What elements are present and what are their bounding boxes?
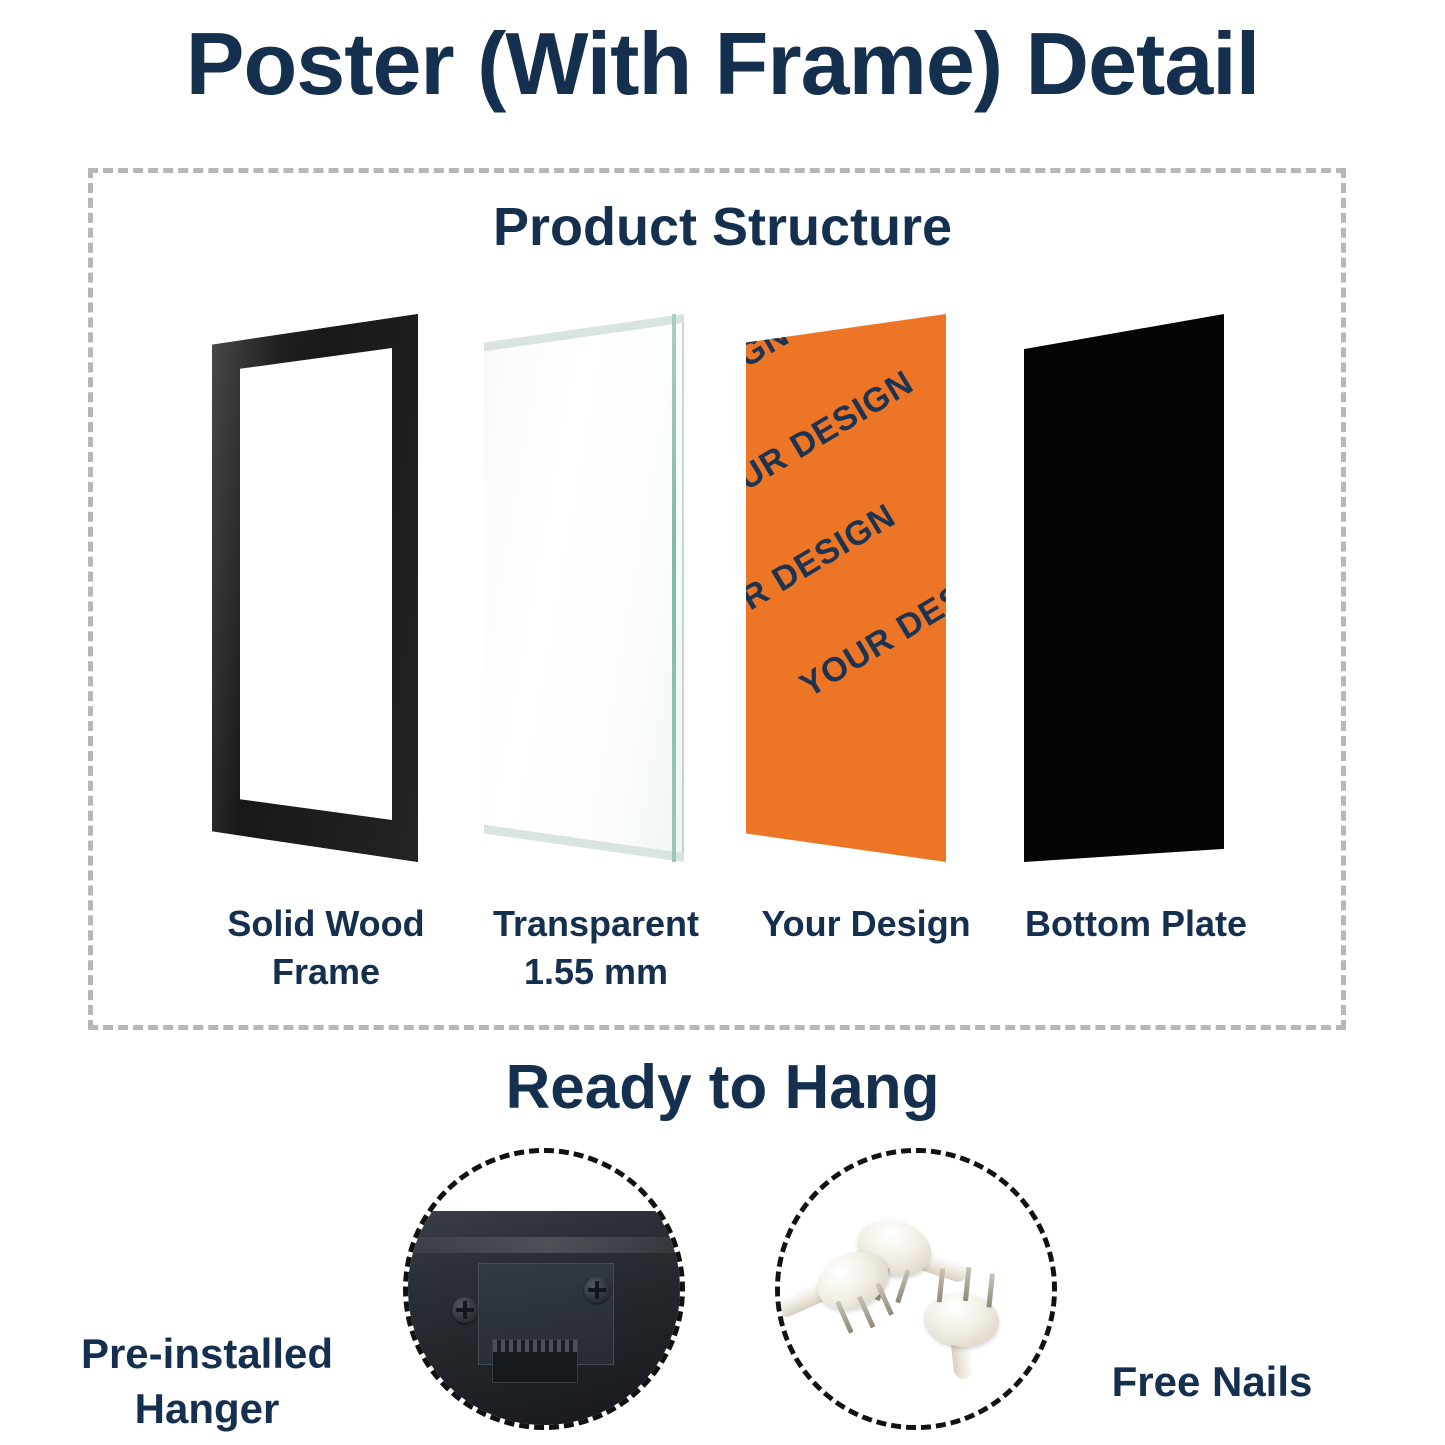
hanger-sawtooth-slot [492, 1339, 578, 1383]
part-bottom-plate: Bottom Plate [1016, 300, 1256, 880]
pre-installed-hanger-photo [403, 1211, 685, 1430]
bottom-plate-body [1024, 314, 1224, 862]
your-design-watermark: YOUR DESIGN YOUR DESIGN YOUR DESIGN YOUR… [746, 314, 946, 862]
hanger-edge-highlight [403, 1237, 685, 1253]
ready-to-hang-heading: Ready to Hang [0, 1052, 1445, 1123]
caption-line-1: Pre-installed [42, 1326, 372, 1381]
hanger-screw-icon [452, 1297, 478, 1323]
your-design-illustration: YOUR DESIGN YOUR DESIGN YOUR DESIGN YOUR… [746, 300, 986, 860]
glass-sheet-illustration [476, 300, 716, 860]
product-structure-heading: Product Structure [0, 196, 1445, 258]
hanger-photo-circle [403, 1148, 685, 1430]
part-your-design: YOUR DESIGN YOUR DESIGN YOUR DESIGN YOUR… [746, 300, 986, 880]
free-nails-caption: Free Nails [1062, 1358, 1362, 1406]
nail-pin [986, 1273, 995, 1307]
caption-line-1: Free Nails [1062, 1358, 1362, 1406]
bottom-plate-illustration [1016, 300, 1256, 860]
caption-line-1: Bottom Plate [976, 900, 1296, 948]
nails-photo-circle [775, 1148, 1057, 1430]
page-title: Poster (With Frame) Detail [0, 16, 1445, 113]
glass-body [484, 314, 684, 862]
part-transparent-sheet: Transparent 1.55 mm [476, 300, 716, 880]
exploded-parts-row: Solid Wood Frame Transparent 1.55 mm YOU… [88, 300, 1346, 880]
wood-frame-illustration [206, 300, 446, 860]
free-nails-photo [780, 1153, 1057, 1430]
caption-line-2: Hanger [42, 1381, 372, 1436]
hanger-screw-icon [584, 1277, 610, 1303]
pre-installed-hanger-caption: Pre-installed Hanger [42, 1326, 372, 1437]
frame-inner-opening [240, 348, 392, 820]
caption-line-2: 1.55 mm [436, 948, 756, 996]
part-solid-wood-frame: Solid Wood Frame [206, 300, 446, 880]
hanger-teeth [493, 1340, 577, 1352]
design-poster-panel: YOUR DESIGN YOUR DESIGN YOUR DESIGN YOUR… [746, 314, 946, 862]
part-caption-bottom-plate: Bottom Plate [976, 900, 1296, 948]
glass-right-edge [672, 314, 676, 862]
